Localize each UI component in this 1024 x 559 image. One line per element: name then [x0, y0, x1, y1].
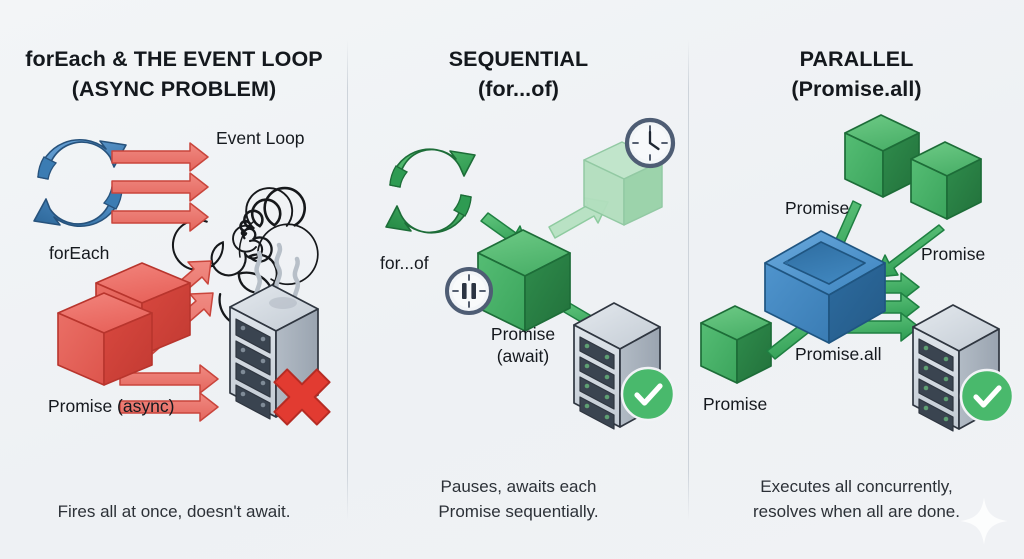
label-promise-await: Promise (await): [468, 323, 578, 367]
panel-illustration: Promise Promise Promise Promise.all: [689, 105, 1024, 455]
panel-title-line2: (for...of): [348, 74, 689, 104]
panel-parallel-promise-all: PARALLEL (Promise.all): [689, 0, 1024, 559]
label-promise-all: Promise.all: [795, 343, 882, 365]
green-cube-icon: [478, 230, 570, 331]
panel-title-line1: SEQUENTIAL: [449, 47, 589, 71]
panel-caption-line1: Pauses, awaits each: [441, 477, 597, 496]
circular-arrows-icon: [386, 149, 475, 233]
panel-illustration: forEach Event Loop Promise (async): [0, 105, 348, 455]
panel-sequential-for-of: SEQUENTIAL (for...of): [348, 0, 689, 559]
panel-title: PARALLEL (Promise.all): [689, 44, 1024, 104]
panel-caption: Executes all concurrently, resolves when…: [689, 474, 1024, 524]
panel-caption-line1: Fires all at once, doesn't await.: [58, 502, 291, 521]
green-cube-icon: [911, 142, 981, 219]
panel-title: forEach & THE EVENT LOOP (ASYNC PROBLEM): [0, 44, 348, 104]
infographic-canvas: forEach & THE EVENT LOOP (ASYNC PROBLEM): [0, 0, 1024, 559]
panel-caption: Fires all at once, doesn't await.: [0, 499, 348, 524]
sequential-illustration-svg: [348, 105, 689, 455]
label-promise-bottom: Promise: [703, 393, 767, 415]
panel-title-line2: (Promise.all): [689, 74, 1024, 104]
panel-title-line2: (ASYNC PROBLEM): [0, 74, 348, 104]
label-foreach: forEach: [49, 242, 109, 264]
panel-illustration: for...of Promise (await): [348, 105, 689, 455]
panel-title-line1: forEach & THE EVENT LOOP: [25, 47, 322, 71]
clock-icon: [627, 120, 673, 166]
label-promise-top-left: Promise: [785, 197, 849, 219]
green-check-icon: [961, 370, 1013, 422]
panel-title: SEQUENTIAL (for...of): [348, 44, 689, 104]
label-promise-top-right: Promise: [921, 243, 985, 265]
green-cube-icon: [845, 115, 919, 197]
panel-caption-line2: resolves when all are done.: [689, 499, 1024, 524]
red-cube-icon: [58, 293, 152, 385]
panel-caption-line1: Executes all concurrently,: [760, 477, 952, 496]
pause-icon: [447, 269, 491, 313]
label-promise-async: Promise (async): [48, 395, 174, 417]
green-cube-icon: [701, 306, 771, 383]
label-event-loop: Event Loop: [216, 127, 305, 149]
label-for-of: for...of: [380, 252, 429, 274]
panel-foreach-async-problem: forEach & THE EVENT LOOP (ASYNC PROBLEM): [0, 0, 348, 559]
panel-title-line1: PARALLEL: [800, 47, 914, 71]
green-check-icon: [622, 368, 674, 420]
panel-caption-line2: Promise sequentially.: [348, 499, 689, 524]
panel-caption: Pauses, awaits each Promise sequentially…: [348, 474, 689, 524]
